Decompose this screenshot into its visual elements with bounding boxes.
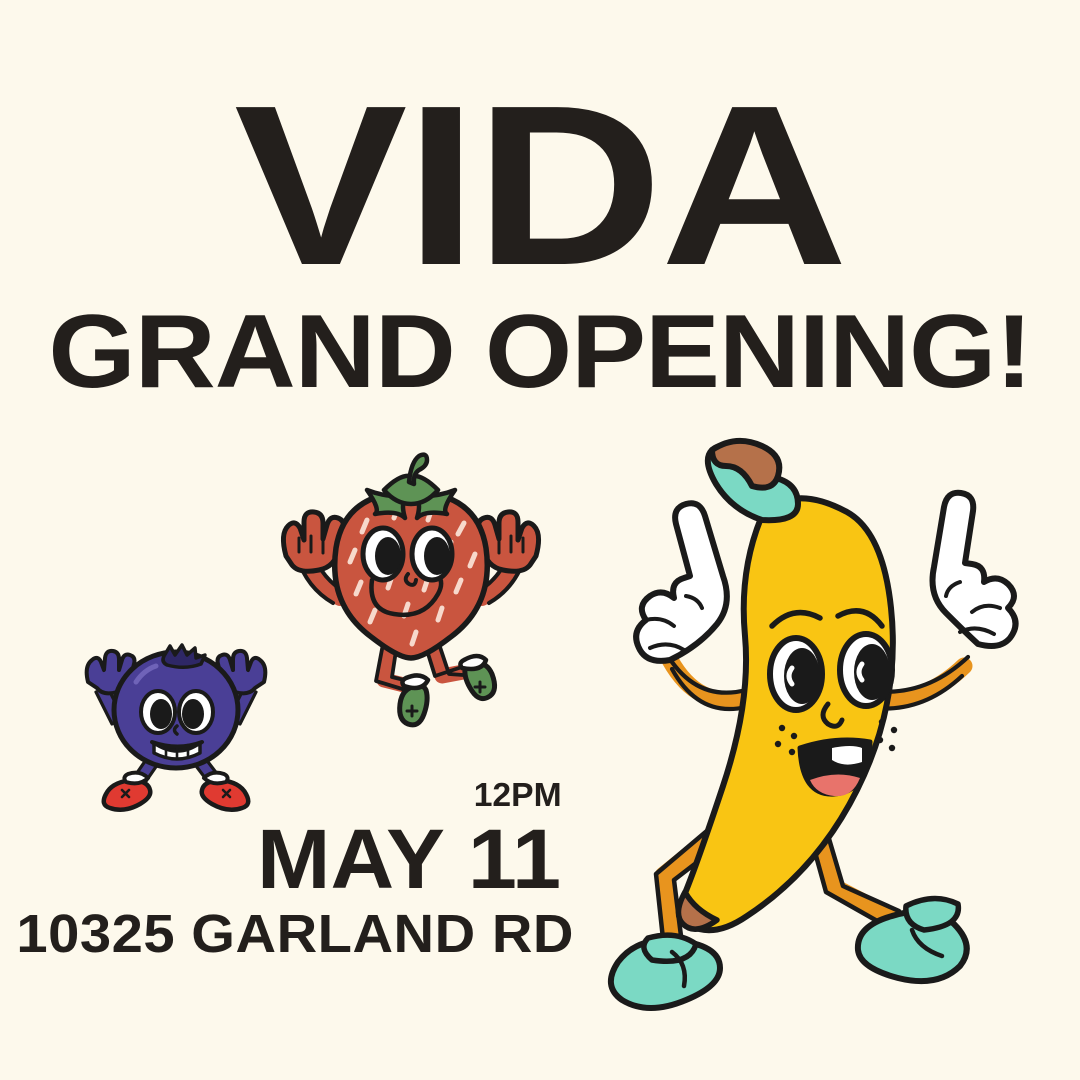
banana-character xyxy=(586,436,1056,1020)
event-address: 10325 GARLAND RD xyxy=(0,907,592,961)
poster-canvas: VIDA GRAND OPENING! xyxy=(0,0,1080,1080)
headline-subtitle: GRAND OPENING! xyxy=(0,300,1080,404)
event-time: 12PM xyxy=(0,778,580,811)
event-date: MAY 11 xyxy=(0,817,580,901)
event-info-block: 12PM MAY 11 10325 GARLAND RD xyxy=(0,778,580,961)
page-title: VIDA xyxy=(0,88,1080,284)
strawberry-character xyxy=(266,448,556,728)
